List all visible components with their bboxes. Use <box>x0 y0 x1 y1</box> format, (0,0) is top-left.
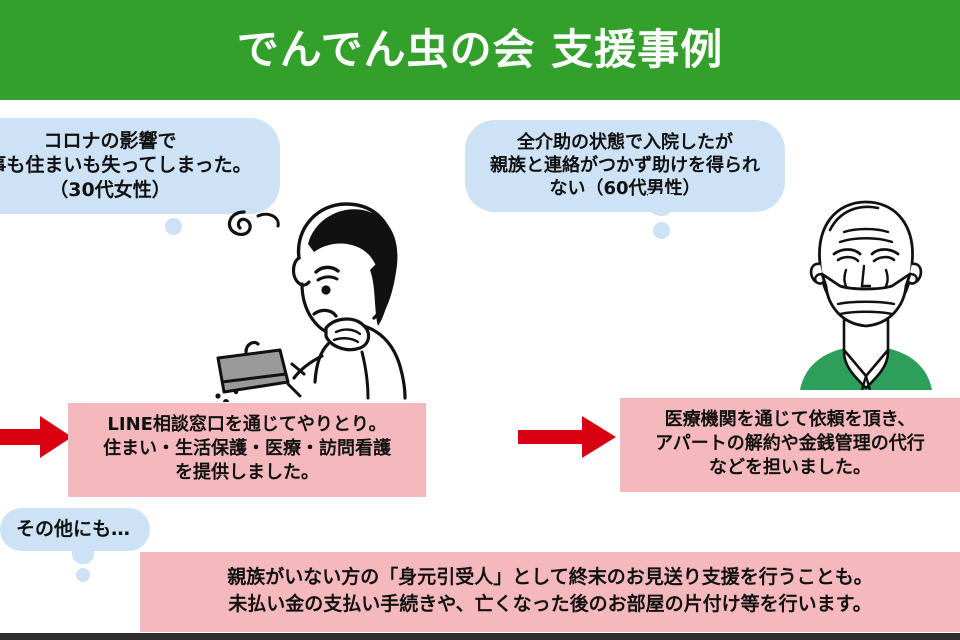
bubble-line: 仕事も住まいも失ってしまった。 <box>0 153 264 177</box>
other-services-banner: 親族がいない方の「身元引受人」として終末のお見送り支援を行うことも。 未払い金の… <box>140 552 960 632</box>
result-box-man: 医療機関を通じて依頼を頂き、 アパートの解約や金銭管理の代行 などを担いました。 <box>620 398 960 492</box>
bubble-line: ない（60代男性） <box>479 177 771 200</box>
result-line: 住まい・生活保護・医療・訪問看護 <box>76 437 418 461</box>
speech-bubble-tail-dot <box>653 222 670 239</box>
illustration-worried-woman <box>196 186 436 406</box>
speech-bubble-tail <box>160 190 186 212</box>
result-line: LINE相談窓口を通じてやりとり。 <box>76 413 418 437</box>
bubble-line: コロナの影響で <box>0 129 264 153</box>
speech-bubble-tail <box>72 546 94 564</box>
bubble-line: 全介助の状態で入院したが <box>479 131 771 154</box>
arrow-case-man <box>518 412 618 466</box>
speech-bubble-tail <box>648 194 674 216</box>
result-box-woman: LINE相談窓口を通じてやりとり。 住まい・生活保護・医療・訪問看護 を提供しま… <box>68 403 426 497</box>
bottom-edge-strip <box>0 633 960 640</box>
header-banner: でんでん虫の会 支援事例 <box>0 0 960 100</box>
slide-root: でんでん虫の会 支援事例 コロナの影響で 仕事も住まいも失ってしまった。 （30… <box>0 0 960 640</box>
bubble-other-label: その他にも… <box>16 517 136 541</box>
page-title: でんでん虫の会 支援事例 <box>237 29 724 71</box>
other-line: 未払い金の支払い手続きや、亡くなった後のお部屋の片付け等を行います。 <box>150 591 950 618</box>
speech-bubble-other: その他にも… <box>0 508 150 551</box>
result-line: などを担いました。 <box>628 456 952 480</box>
illustration-masked-man <box>786 190 946 394</box>
result-line: を提供しました。 <box>76 461 418 485</box>
speech-bubble-tail-dot <box>165 218 182 235</box>
speech-bubble-man: 全介助の状態で入院したが 親族と連絡がつかず助けを得られ ない（60代男性） <box>465 120 785 212</box>
bubble-line: 親族と連絡がつかず助けを得られ <box>479 154 771 177</box>
result-line: 医療機関を通じて依頼を頂き、 <box>628 408 952 432</box>
other-line: 親族がいない方の「身元引受人」として終末のお見送り支援を行うことも。 <box>150 564 950 591</box>
speech-bubble-tail-dot <box>76 568 90 582</box>
arrow-case-woman <box>0 412 74 466</box>
result-line: アパートの解約や金銭管理の代行 <box>628 432 952 456</box>
